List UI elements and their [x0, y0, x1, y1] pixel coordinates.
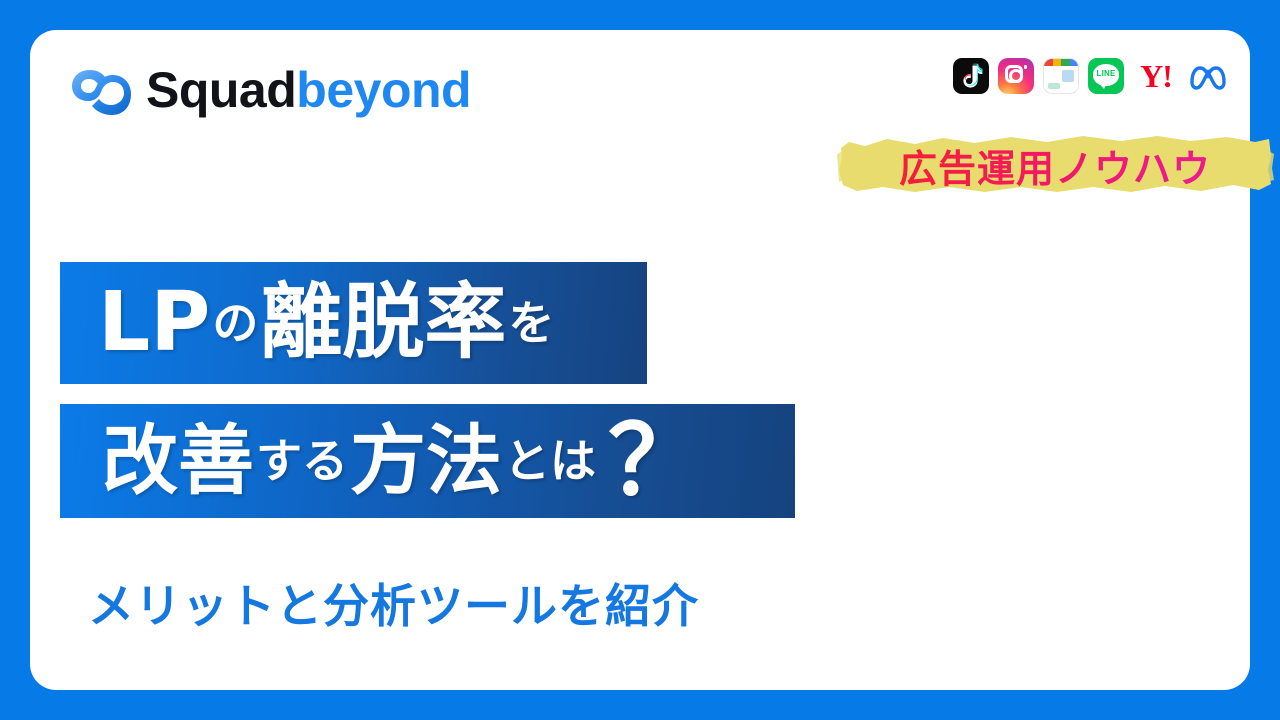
yahoo-icon: Y! [1133, 58, 1179, 94]
headline-line-1: LP の 離脱率 を [60, 262, 647, 384]
slide-canvas: Squadbeyond [0, 0, 1280, 720]
brand-wordmark: Squadbeyond [146, 65, 471, 115]
headline-1-bounce-rate: 離脱率 [260, 282, 506, 364]
headline-1-no: の [210, 300, 260, 346]
headline-2-toha: とは [502, 438, 598, 484]
topic-badge: 広告運用ノウハウ [835, 130, 1275, 200]
brand-name-beyond: beyond [296, 62, 471, 118]
line-icon: LINE [1088, 58, 1124, 94]
squad-infinity-mark-icon [70, 62, 132, 118]
brand-name-squad: Squad [146, 62, 296, 118]
headline-2-improve: 改善 [102, 423, 254, 499]
headline-2-suru: する [254, 438, 350, 484]
topic-badge-label: 広告運用ノウハウ [835, 130, 1275, 200]
brand-logo: Squadbeyond [70, 62, 471, 118]
smartnews-icon [1043, 58, 1079, 94]
headline-line-2: 改善 する 方法 とは ？ [60, 404, 795, 518]
headline-2-question-mark: ？ [598, 418, 704, 504]
headline-1-lp: LP [98, 282, 210, 364]
meta-icon [1188, 58, 1228, 94]
headline-1-wo: を [506, 300, 556, 346]
headline-2-method: 方法 [350, 423, 502, 499]
content-card: Squadbeyond [30, 30, 1250, 690]
instagram-icon [998, 58, 1034, 94]
subtitle: メリットと分析ツールを紹介 [88, 570, 699, 636]
tiktok-icon [953, 58, 989, 94]
social-platform-icons: LINE Y! [953, 58, 1228, 94]
